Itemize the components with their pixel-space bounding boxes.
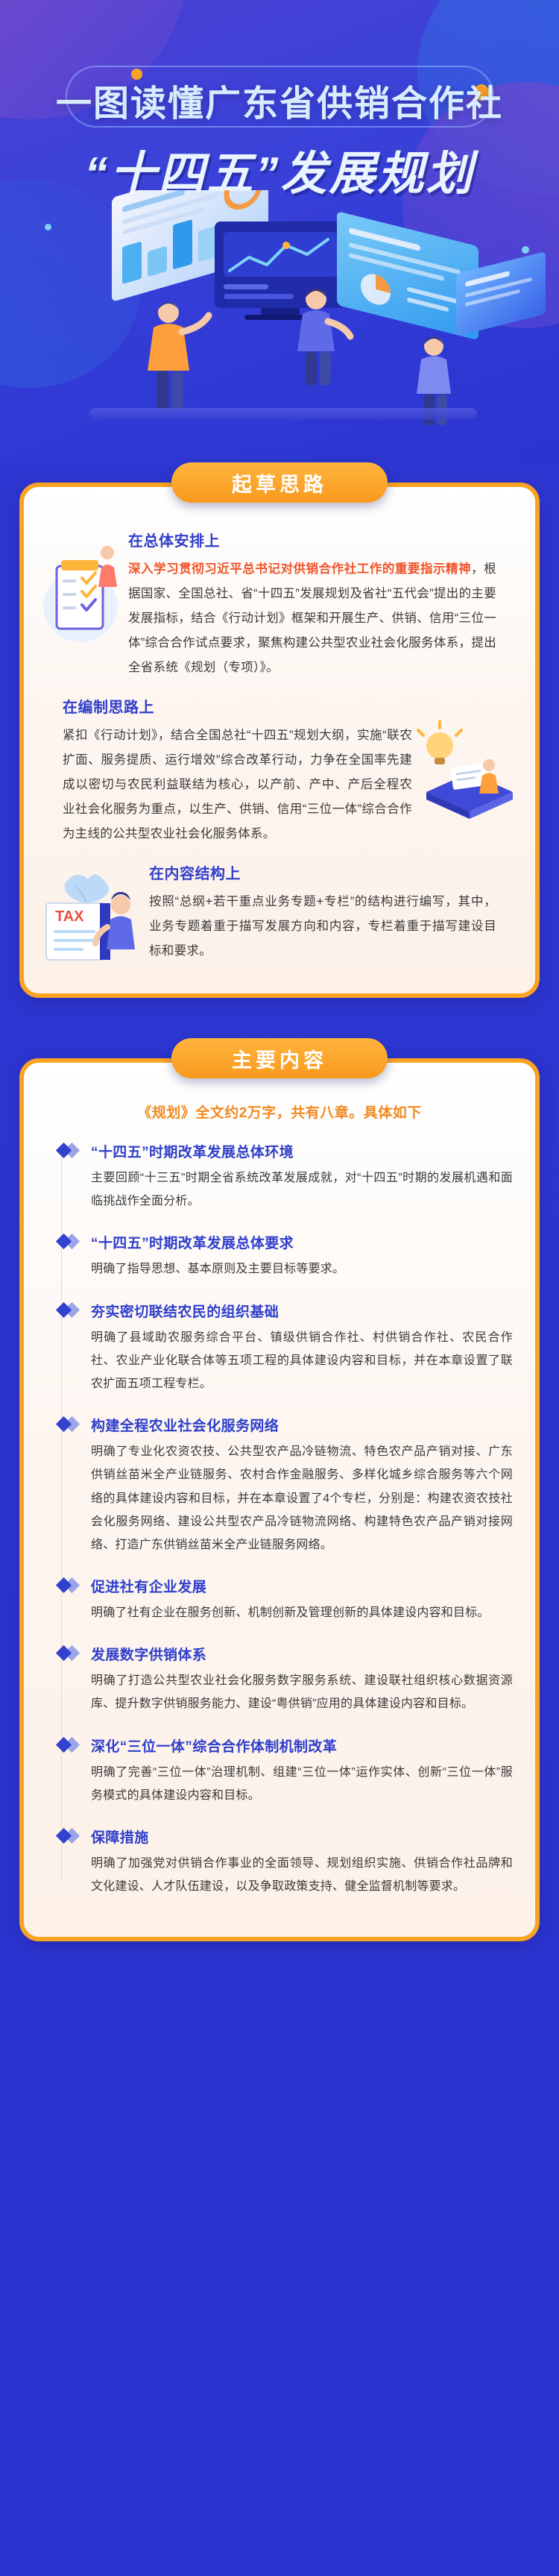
diamond-bullet-icon xyxy=(58,1647,80,1659)
list-item-desc: 明确了社有企业在服务创新、机制创新及管理创新的具体建设内容和目标。 xyxy=(91,1601,513,1624)
list-item-desc: 主要回顾“十三五”时期全省系统改革发展成就，对“十四五”时期的发展机遇和面临挑战… xyxy=(91,1166,513,1213)
list-item-title: “十四五”时期改革发展总体环境 xyxy=(91,1141,513,1161)
content-intro-line: 《规划》全文约2万字，共有八章。具体如下 xyxy=(46,1102,513,1122)
block-highlight-text: 深入学习贯彻习近平总书记对供销合作社工作的重要指示精神 xyxy=(128,562,471,576)
block-rest-text: ，根据国家、全国总社、省“十四五”发展规划及省社“五代会”提出的主要发展指标，结… xyxy=(128,562,496,674)
list-item-desc: 明确了打造公共型农业社会化服务数字服务系统、建设联社组织核心数据资源库、提升数字… xyxy=(91,1669,513,1715)
list-item-desc: 明确了县域助农服务综合平台、镇级供销合作社、村供销合作社、农民合作社、农业产业化… xyxy=(91,1326,513,1396)
block-body-compilation-approach: 紧扣《行动计划》，结合全国总社“十四五”规划大纲，实施“联农扩面、服务提质、运行… xyxy=(63,723,412,846)
page-title: 一图读懂广东省供销合作社 xyxy=(0,74,559,126)
list-item[interactable]: 保障措施 明确了加强党对供销合作事业的全面领导、规划组织实施、供销合作社品牌和文… xyxy=(52,1826,513,1898)
open-book-lightbulb-icon xyxy=(413,720,525,825)
clipboard-checklist-icon xyxy=(42,535,124,647)
list-item-title: 深化“三位一体”综合合作体制机制改革 xyxy=(91,1735,513,1756)
list-item-desc: 明确了专业化农资农技、公共型农产品冷链物流、特色农产品产销对接、广东供销丝苗米全… xyxy=(91,1440,513,1556)
list-item-title: 夯实密切联结农民的组织基础 xyxy=(91,1301,513,1321)
drafting-section: 起草思路 xyxy=(0,462,559,998)
list-item-title: 保障措施 xyxy=(91,1826,513,1847)
list-item-desc: 明确了指导思想、基本原则及主要目标等要求。 xyxy=(91,1257,513,1281)
tax-document-icon: TAX xyxy=(37,861,146,973)
diamond-bullet-icon xyxy=(58,1304,80,1316)
list-item-title: “十四五”时期改革发展总体要求 xyxy=(91,1232,513,1252)
drafting-section-banner: 起草思路 xyxy=(171,462,388,503)
main-content-section: 主要内容 《规划》全文约2万字，共有八章。具体如下 “十四五”时期改革发展总体环… xyxy=(0,1038,559,1976)
drafting-block-overall-arrangement: 在总体安排上 深入学习贯彻习近平总书记对供销合作社工作的重要指示精神，根据国家、… xyxy=(24,529,535,680)
block-body-content-structure: 按照“总纲+若干重点业务专题+专栏”的结构进行编写，其中，业务专题着重于描写发展… xyxy=(149,890,496,964)
list-item-desc: 明确了加强党对供销合作事业的全面领导、规划组织实施、供销合作社品牌和文化建设、人… xyxy=(91,1852,513,1898)
content-banner-label: 主要内容 xyxy=(232,1044,327,1073)
infographic-page: 一图读懂广东省供销合作社 “十四五”发展规划 xyxy=(0,0,559,2576)
hero-banner: 一图读懂广东省供销合作社 “十四五”发展规划 xyxy=(0,0,559,462)
content-card: 《规划》全文约2万字，共有八章。具体如下 “十四五”时期改革发展总体环境 主要回… xyxy=(19,1058,540,1941)
list-item-title: 促进社有企业发展 xyxy=(91,1576,513,1596)
diamond-bullet-icon xyxy=(58,1580,80,1591)
block-heading-content-structure: 在内容结构上 xyxy=(149,861,496,883)
diamond-bullet-icon xyxy=(58,1419,80,1430)
list-item-desc: 明确了完善“三位一体”治理机制、组建“三位一体”运作实体、创新“三位一体”服务模… xyxy=(91,1761,513,1807)
diamond-bullet-icon xyxy=(58,1739,80,1750)
drafting-card: 在总体安排上 深入学习贯彻习近平总书记对供销合作社工作的重要指示精神，根据国家、… xyxy=(19,483,540,998)
list-item-title: 发展数字供销体系 xyxy=(91,1644,513,1664)
list-item[interactable]: 发展数字供销体系 明确了打造公共型农业社会化服务数字服务系统、建设联社组织核心数… xyxy=(52,1644,513,1715)
list-item[interactable]: 促进社有企业发展 明确了社有企业在服务创新、机制创新及管理创新的具体建设内容和目… xyxy=(52,1576,513,1624)
list-item-title: 构建全程农业社会化服务网络 xyxy=(91,1415,513,1435)
drafting-block-compilation-approach: 在编制思路上 紧扣《行动计划》，结合全国总社“十四五”规划大纲，实施“联农扩面、… xyxy=(24,695,535,846)
drafting-card-wrap: 在总体安排上 深入学习贯彻习近平总书记对供销合作社工作的重要指示精神，根据国家、… xyxy=(0,483,559,998)
diamond-bullet-icon xyxy=(58,1236,80,1247)
list-item[interactable]: “十四五”时期改革发展总体要求 明确了指导思想、基本原则及主要目标等要求。 xyxy=(52,1232,513,1281)
diamond-bullet-icon xyxy=(58,1830,80,1841)
list-item[interactable]: “十四五”时期改革发展总体环境 主要回顾“十三五”时期全省系统改革发展成就，对“… xyxy=(52,1141,513,1213)
content-section-banner: 主要内容 xyxy=(171,1038,388,1078)
block-heading-compilation-approach: 在编制思路上 xyxy=(63,695,412,717)
hero-illustration xyxy=(0,190,559,462)
drafting-banner-label: 起草思路 xyxy=(232,468,327,497)
page-bottom-spacer xyxy=(0,1941,559,1976)
list-item[interactable]: 构建全程农业社会化服务网络 明确了专业化农资农技、公共型农产品冷链物流、特色农产… xyxy=(52,1415,513,1556)
content-item-list: “十四五”时期改革发展总体环境 主要回顾“十三五”时期全省系统改革发展成就，对“… xyxy=(46,1141,513,1898)
list-item[interactable]: 深化“三位一体”综合合作体制机制改革 明确了完善“三位一体”治理机制、组建“三位… xyxy=(52,1735,513,1807)
drafting-block-content-structure: TAX 在内容结构上 按照“总纲+若干重点业务专题+专栏 xyxy=(24,861,535,964)
content-card-wrap: 《规划》全文约2万字，共有八章。具体如下 “十四五”时期改革发展总体环境 主要回… xyxy=(0,1058,559,1941)
diamond-bullet-icon xyxy=(58,1145,80,1156)
list-item[interactable]: 夯实密切联结农民的组织基础 明确了县域助农服务综合平台、镇级供销合作社、村供销合… xyxy=(52,1301,513,1396)
block-heading-overall-arrangement: 在总体安排上 xyxy=(128,529,496,550)
svg-text:TAX: TAX xyxy=(55,908,84,925)
block-body-overall-arrangement: 深入学习贯彻习近平总书记对供销合作社工作的重要指示精神，根据国家、全国总社、省“… xyxy=(128,557,496,680)
